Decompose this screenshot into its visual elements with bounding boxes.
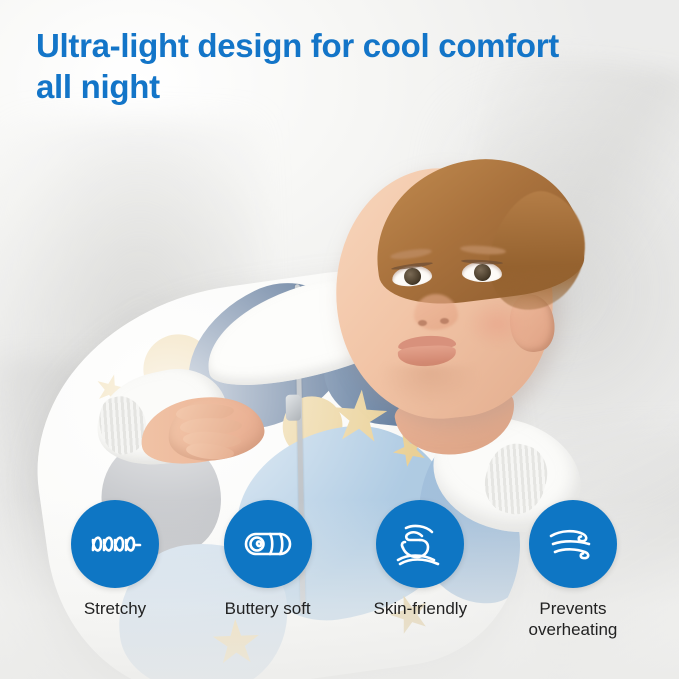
airflow-breeze-icon [545, 524, 601, 564]
rolled-fabric-icon [240, 522, 296, 566]
feature-label-prevents-overheating: Prevents overheating [503, 598, 643, 641]
badge-circle-stretchy [71, 500, 159, 588]
feature-buttery-soft: Buttery soft [197, 500, 339, 619]
feature-label-stretchy: Stretchy [84, 598, 146, 619]
feature-label-skin-friendly: Skin-friendly [374, 598, 468, 619]
badge-circle-buttery-soft [224, 500, 312, 588]
hand-touch-fabric-icon [392, 520, 448, 568]
iris-right [474, 264, 492, 282]
feature-label-buttery-soft: Buttery soft [225, 598, 311, 619]
spring-coil-icon [87, 524, 143, 564]
badge-circle-prevents-overheating [529, 500, 617, 588]
iris-left [403, 267, 422, 286]
product-lifestyle-image: Ultra-light design for cool comfort all … [0, 0, 679, 679]
cheek [466, 300, 528, 348]
feature-stretchy: Stretchy [44, 500, 186, 619]
badge-circle-skin-friendly [376, 500, 464, 588]
nostril-right [440, 318, 449, 324]
zipper-pull [286, 395, 301, 421]
chin [382, 366, 478, 406]
page-title: Ultra-light design for cool comfort all … [36, 26, 596, 108]
feature-skin-friendly: Skin-friendly [349, 500, 491, 619]
feature-badge-row: Stretchy Buttery soft [44, 500, 644, 641]
feature-prevents-overheating: Prevents overheating [502, 500, 644, 641]
nostril-left [418, 320, 427, 326]
